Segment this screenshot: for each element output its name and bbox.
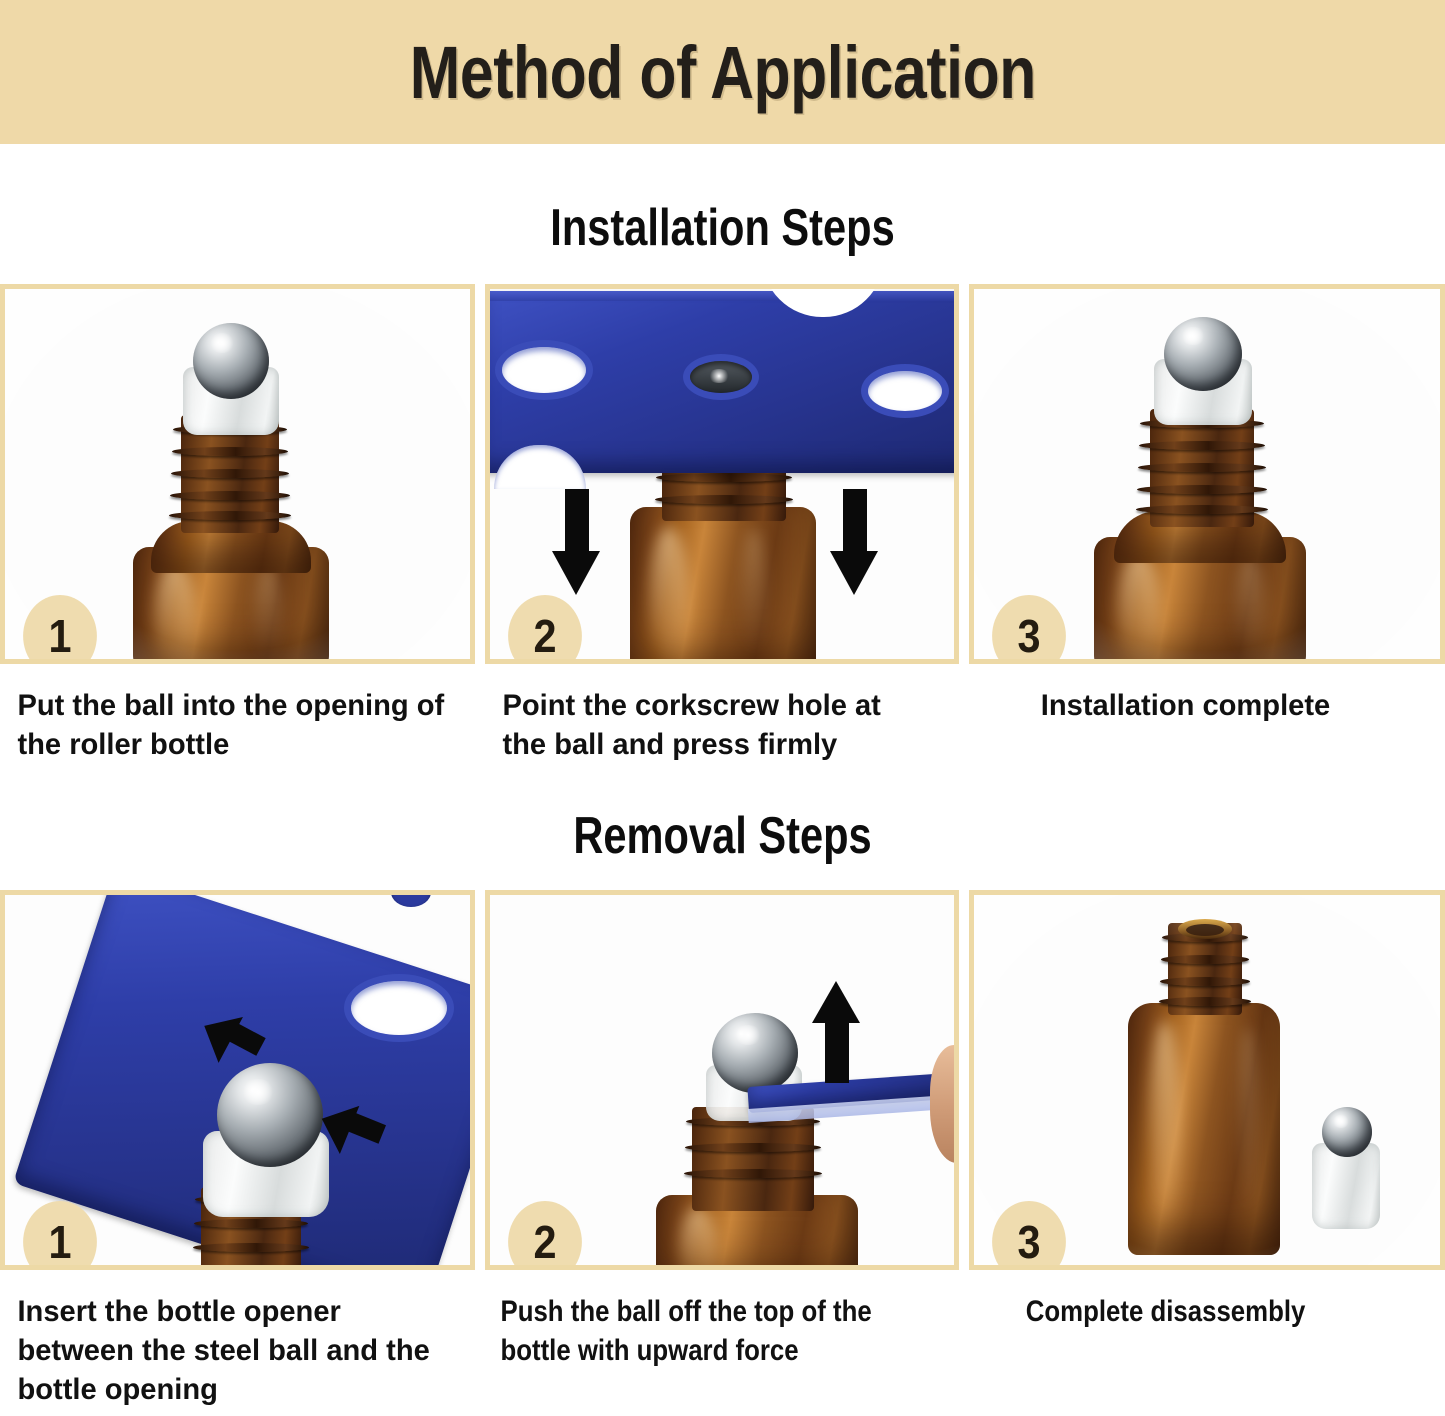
step-caption-removal-2: Push the ball off the top of the bottle … (485, 1292, 893, 1370)
step-caption-removal-3: Complete disassembly (969, 1292, 1378, 1331)
step-image-panel-removal-2: 2 (485, 890, 960, 1270)
arrow-down-right (830, 489, 878, 595)
step-caption-install-1: Put the ball into the opening of the rol… (0, 686, 460, 764)
arrow-down-left (552, 489, 600, 595)
installation-steps-row: 1 Put the ball into the opening of the r… (0, 284, 1445, 764)
step-card-removal-2: 2 Push the ball off the top of the bottl… (485, 890, 960, 1409)
arrow-up (812, 981, 860, 1085)
section-heading-installation: Installation Steps (145, 198, 1301, 258)
step-image-panel-install-2: 2 (485, 284, 960, 664)
step-caption-install-3: Installation complete (969, 686, 1430, 725)
hand (930, 1045, 955, 1163)
step-caption-install-2: Point the corkscrew hole at the ball and… (485, 686, 945, 764)
step-image-panel-removal-3: 3 (969, 890, 1445, 1270)
step-caption-removal-1: Insert the bottle opener between the ste… (0, 1292, 460, 1409)
removal-steps-row: 1 Insert the bottle opener between the s… (0, 890, 1445, 1409)
page-title: Method of Application (409, 30, 1035, 115)
step-card-install-2: 2 Point the corkscrew hole at the ball a… (485, 284, 960, 764)
step-image-panel-install-3: 3 (969, 284, 1445, 664)
step-card-removal-3: 3 Complete disassembly (969, 890, 1445, 1409)
header-banner: Method of Application (0, 0, 1445, 144)
step-image-panel-removal-1: 1 (0, 890, 475, 1270)
step-card-install-3: 3 Installation complete (969, 284, 1445, 764)
step-card-install-1: 1 Put the ball into the opening of the r… (0, 284, 475, 764)
section-heading-removal: Removal Steps (145, 806, 1301, 866)
step-image-panel-install-1: 1 (0, 284, 475, 664)
step-card-removal-1: 1 Insert the bottle opener between the s… (0, 890, 475, 1409)
